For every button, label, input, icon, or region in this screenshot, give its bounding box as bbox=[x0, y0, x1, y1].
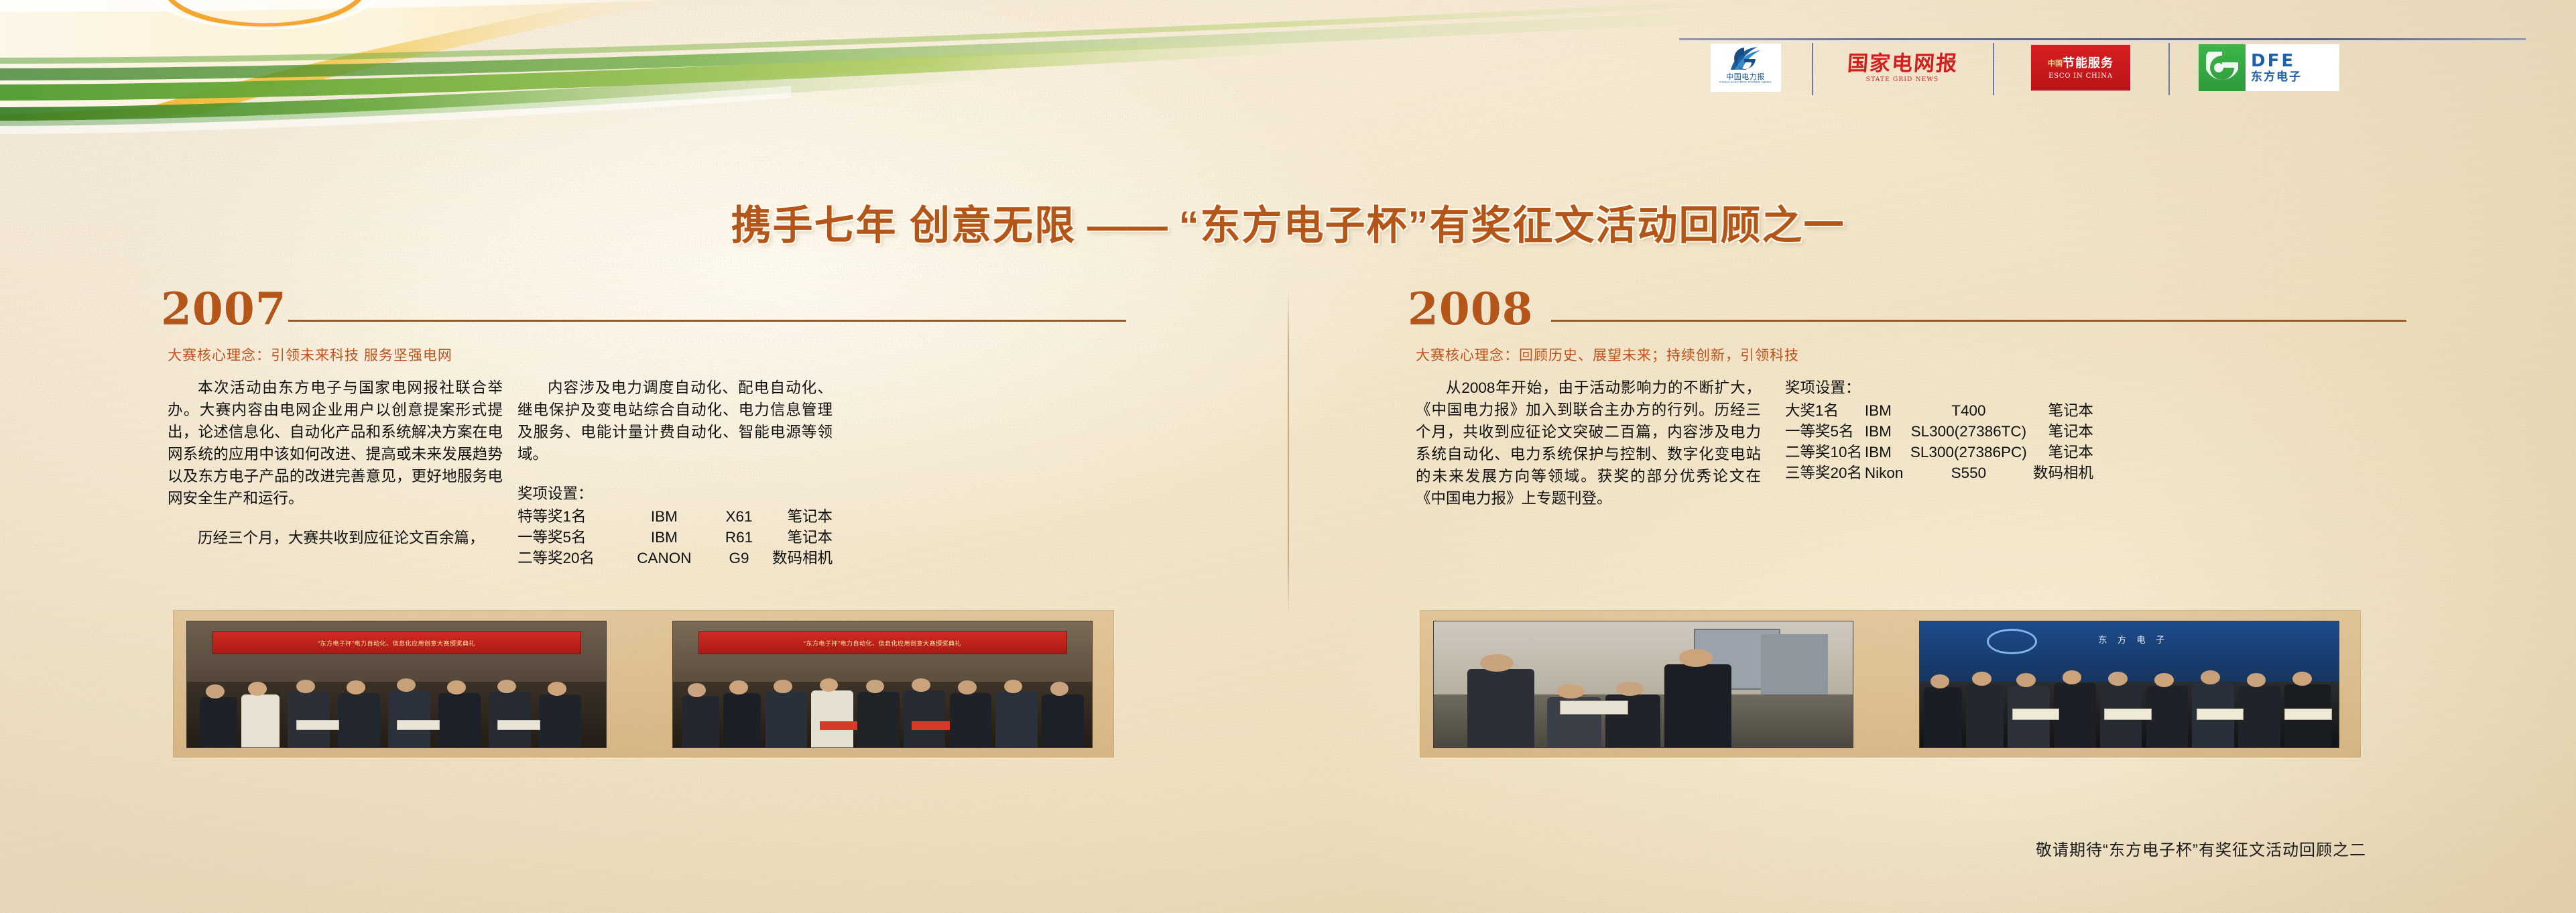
award-ceremony-photo-2008-b[interactable]: 东 方 电 子 bbox=[1919, 621, 2339, 748]
header-swoosh-graphic bbox=[0, 0, 1810, 134]
award-brand: IBM bbox=[1865, 400, 1907, 421]
award-brand: IBM bbox=[623, 527, 706, 548]
award-item: 数码相机 bbox=[2030, 463, 2093, 483]
cepn-cn-text: 中国电力报 bbox=[1726, 73, 1765, 80]
table-row: 大奖1名 IBM T400 笔记本 bbox=[1785, 400, 2093, 421]
page-title-dash: —— bbox=[1076, 203, 1178, 248]
table-row: 一等奖5名 IBM SL300(27386TC) 笔记本 bbox=[1785, 421, 2093, 442]
state-grid-news-logo: 国家电网报 STATE GRID NEWS bbox=[1847, 53, 1958, 83]
china-electric-power-news-logo: 中国电力报 CHINA ELECTRIC POWER NEWS bbox=[1711, 44, 1781, 92]
award-rank: 大奖1名 bbox=[1785, 400, 1865, 421]
award-brand: CANON bbox=[623, 548, 706, 568]
award-model: SL300(27386PC) bbox=[1907, 442, 2030, 463]
concept-line-2008: 大赛核心理念：回顾历史、展望未来；持续创新，引领科技 bbox=[1416, 345, 2406, 365]
esco-cn-text: 节能服务 bbox=[2063, 56, 2113, 70]
paragraph: 从2008年开始，由于活动影响力的不断扩大，《中国电力报》加入到联合主办方的行列… bbox=[1416, 377, 1761, 509]
award-brand: IBM bbox=[1865, 421, 1907, 442]
award-rank: 二等奖20名 bbox=[517, 548, 623, 568]
award-rank: 一等奖5名 bbox=[517, 527, 623, 548]
award-item: 笔记本 bbox=[2030, 421, 2093, 442]
sgn-en-text: STATE GRID NEWS bbox=[1866, 76, 1939, 83]
award-model: S550 bbox=[1907, 463, 2030, 483]
logo-cell-esco-in-china[interactable]: 中国 节能服务 ESCO IN CHINA bbox=[1993, 42, 2168, 94]
esco-cn-prefix: 中国 bbox=[2048, 58, 2063, 68]
table-row: 一等奖5名 IBM R61 笔记本 bbox=[517, 527, 833, 548]
year-number-2007: 2007 bbox=[161, 288, 287, 330]
paragraph: 内容涉及电力调度自动化、配电自动化、继电保护及变电站综合自动化、电力信息管理及服… bbox=[517, 377, 833, 465]
award-model: X61 bbox=[706, 506, 772, 527]
section-divider bbox=[1288, 288, 1289, 617]
photo-strip-2007: “东方电子杯”电力自动化、信息化应用创意大赛颁奖典礼 “东方电子杯”电力自动化、… bbox=[173, 610, 1114, 757]
photo-strip-2008: 东 方 电 子 bbox=[1420, 610, 2361, 757]
sgn-cn-text: 国家电网报 bbox=[1846, 53, 1958, 75]
photo-banner-text: 东 方 电 子 bbox=[2071, 627, 2197, 650]
award-brand: Nikon bbox=[1865, 463, 1907, 483]
award-rank: 特等奖1名 bbox=[517, 506, 623, 527]
year-heading-2007: 2007 bbox=[161, 288, 1126, 330]
award-ceremony-photo-2008-a[interactable] bbox=[1433, 621, 1853, 748]
year-rule-2008 bbox=[1551, 320, 2406, 322]
body-column-2-2007: 内容涉及电力调度自动化、配电自动化、继电保护及变电站综合自动化、电力信息管理及服… bbox=[517, 377, 833, 568]
dfe-dongfang-electronics-logo: DFE 东方电子 bbox=[2199, 44, 2339, 91]
table-row: 特等奖1名 IBM X61 笔记本 bbox=[517, 506, 833, 527]
year-rule-2007 bbox=[288, 320, 1126, 322]
sponsor-logo-bar: 中国电力报 CHINA ELECTRIC POWER NEWS 国家电网报 ST… bbox=[1679, 0, 2544, 94]
body-column-2-2008: 奖项设置： 大奖1名 IBM T400 笔记本 一等奖5名 IBM SL300(… bbox=[1785, 377, 2093, 509]
table-row: 二等奖20名 CANON G9 数码相机 bbox=[517, 548, 833, 568]
award-rank: 二等奖10名 bbox=[1785, 442, 1865, 463]
concept-line-2007: 大赛核心理念：引领未来科技 服务坚强电网 bbox=[168, 345, 1126, 365]
body-columns-2008: 从2008年开始，由于活动影响力的不断扩大，《中国电力报》加入到联合主办方的行列… bbox=[1416, 377, 2406, 509]
logo-cell-china-electric-power-news[interactable]: 中国电力报 CHINA ELECTRIC POWER NEWS bbox=[1679, 42, 1812, 94]
section-2007: 2007 大赛核心理念：引领未来科技 服务坚强电网 本次活动由东方电子与国家电网… bbox=[161, 288, 1126, 568]
esco-in-china-logo: 中国 节能服务 ESCO IN CHINA bbox=[2030, 44, 2131, 91]
award-ceremony-photo-2007-b[interactable]: “东方电子杯”电力自动化、信息化应用创意大赛颁奖典礼 bbox=[672, 621, 1093, 748]
awards-table-2008: 大奖1名 IBM T400 笔记本 一等奖5名 IBM SL300(27386T… bbox=[1785, 400, 2093, 483]
body-column-1-2007: 本次活动由东方电子与国家电网报社联合举办。大赛内容由电网企业用户以创意提案形式提… bbox=[168, 377, 503, 568]
photo-banner-text: “东方电子杯”电力自动化、信息化应用创意大赛颁奖典礼 bbox=[212, 631, 581, 654]
award-item: 笔记本 bbox=[772, 527, 833, 548]
body-columns-2007: 本次活动由东方电子与国家电网报社联合举办。大赛内容由电网企业用户以创意提案形式提… bbox=[168, 377, 1126, 568]
paragraph: 本次活动由东方电子与国家电网报社联合举办。大赛内容由电网企业用户以创意提案形式提… bbox=[168, 377, 503, 509]
table-row: 三等奖20名 Nikon S550 数码相机 bbox=[1785, 463, 2093, 483]
award-item: 笔记本 bbox=[2030, 442, 2093, 463]
logo-list: 中国电力报 CHINA ELECTRIC POWER NEWS 国家电网报 ST… bbox=[1679, 42, 2526, 94]
footer-note: 敬请期待“东方电子杯”有奖征文活动回顾之二 bbox=[1408, 837, 2406, 860]
page-title-main: 携手七年 创意无限 bbox=[731, 203, 1076, 248]
body-column-1-2008: 从2008年开始，由于活动影响力的不断扩大，《中国电力报》加入到联合主办方的行列… bbox=[1416, 377, 1761, 509]
award-item: 数码相机 bbox=[772, 548, 833, 568]
esco-en-text: ESCO IN CHINA bbox=[2048, 72, 2113, 80]
section-2008: 2008 大赛核心理念：回顾历史、展望未来；持续创新，引领科技 从2008年开始… bbox=[1408, 288, 2406, 509]
dfe-green-mark-icon bbox=[2199, 44, 2246, 91]
year-heading-2008: 2008 bbox=[1408, 288, 2406, 330]
paragraph: 历经三个月，大赛共收到应征论文百余篇， bbox=[168, 527, 503, 549]
award-brand: IBM bbox=[1865, 442, 1907, 463]
award-item: 笔记本 bbox=[772, 506, 833, 527]
year-number-2008: 2008 bbox=[1408, 288, 1534, 330]
page-title-sub: “东方电子杯”有奖征文活动回顾之一 bbox=[1179, 203, 1845, 248]
award-brand: IBM bbox=[623, 506, 706, 527]
award-model: R61 bbox=[706, 527, 772, 548]
cepn-mark-icon bbox=[1727, 46, 1764, 72]
dfe-cn-text: 东方电子 bbox=[2251, 70, 2302, 84]
logo-bar-divider-line bbox=[1679, 38, 2526, 40]
logo-cell-dongfang-electronics[interactable]: DFE 东方电子 bbox=[2168, 42, 2370, 94]
award-model: G9 bbox=[706, 548, 772, 568]
award-ceremony-photo-2007-a[interactable]: “东方电子杯”电力自动化、信息化应用创意大赛颁奖典礼 bbox=[186, 621, 607, 748]
award-model: SL300(27386TC) bbox=[1907, 421, 2030, 442]
photo-banner-text: “东方电子杯”电力自动化、信息化应用创意大赛颁奖典礼 bbox=[698, 631, 1067, 654]
award-item: 笔记本 bbox=[2030, 400, 2093, 421]
award-model: T400 bbox=[1907, 400, 2030, 421]
awards-label-2007: 奖项设置： bbox=[517, 483, 833, 505]
awards-table-2007: 特等奖1名 IBM X61 笔记本 一等奖5名 IBM R61 笔记本 二等奖2… bbox=[517, 506, 833, 568]
page-title: 携手七年 创意无限 —— “东方电子杯”有奖征文活动回顾之一 bbox=[0, 193, 2576, 251]
award-rank: 三等奖20名 bbox=[1785, 463, 1865, 483]
dfe-en-text: DFE bbox=[2251, 52, 2295, 70]
logo-cell-state-grid-news[interactable]: 国家电网报 STATE GRID NEWS bbox=[1812, 42, 1993, 94]
table-row: 二等奖10名 IBM SL300(27386PC) 笔记本 bbox=[1785, 442, 2093, 463]
award-rank: 一等奖5名 bbox=[1785, 421, 1865, 442]
awards-label-2008: 奖项设置： bbox=[1785, 377, 2093, 399]
cepn-en-text: CHINA ELECTRIC POWER NEWS bbox=[1719, 80, 1772, 84]
